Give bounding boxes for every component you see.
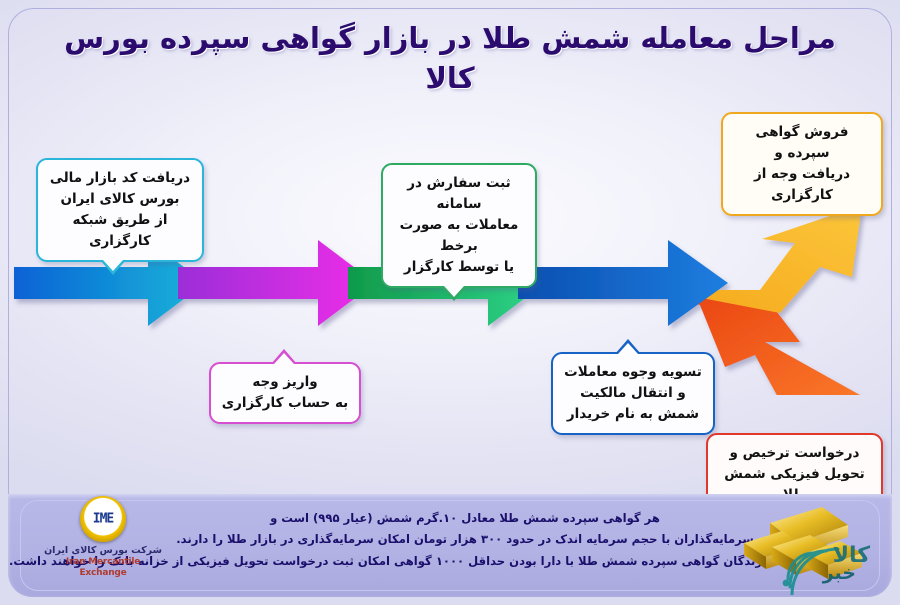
callout-step-1: دریافت کد بازار مالی بورس کالای ایران از…	[36, 158, 204, 262]
callout-step-4: تسویه وجوه معاملات و انتقال مالکیت شمش ب…	[551, 352, 715, 435]
callout-step-3: ثبت سفارش در سامانه معاملات به صورت برخط…	[381, 163, 537, 288]
callout-tail	[271, 349, 297, 364]
callout-tail	[441, 286, 467, 301]
step-4-line-1: تسویه وجوه معاملات	[563, 362, 703, 383]
step-1-line-1: دریافت کد بازار مالی	[48, 168, 192, 189]
step-3-line-2: معاملات به صورت برخط	[393, 215, 525, 257]
step-1-line-3: از طریق شبکه کارگزاری	[48, 210, 192, 252]
step-2-line-1: واریز وجه	[221, 372, 349, 393]
step-3-line-3: یا توسط کارگزار	[393, 257, 525, 278]
step-5-line-1: فروش گواهی سپرده و	[733, 122, 871, 164]
step-6-line-1: درخواست ترخیص و	[718, 443, 871, 464]
arrow-4	[518, 240, 728, 326]
ime-name-fa: شرکت بورس کالای ایران	[42, 545, 164, 557]
ime-logo-mark-text: IME	[80, 511, 126, 526]
watermark-line-2: خبر	[823, 562, 856, 584]
footer-band: هر گواهی سپرده شمش طلا معادل ۱۰.گرم شمش …	[8, 494, 892, 597]
step-4-line-2: و انتقال مالکیت	[563, 383, 703, 404]
arrow-2	[178, 240, 375, 326]
ime-name-en: Iran Mercantile Exchange	[42, 557, 164, 580]
footer-line-2: سرمایه‌گذاران با حجم سرمایه اندک در حدود…	[158, 529, 772, 550]
step-4-line-3: شمش به نام خریدار	[563, 404, 703, 425]
footer-note: هر گواهی سپرده شمش طلا معادل ۱۰.گرم شمش …	[158, 508, 772, 572]
callout-step-5: فروش گواهی سپرده و دریافت وجه از کارگزار…	[721, 112, 883, 216]
step-1-line-2: بورس کالای ایران	[48, 189, 192, 210]
watermark-kalakhabar: کالا خبر	[776, 529, 872, 591]
ime-logo: IME شرکت بورس کالای ایران Iran Mercantil…	[42, 496, 164, 579]
step-3-line-1: ثبت سفارش در سامانه	[393, 173, 525, 215]
callout-tail	[100, 260, 126, 275]
ime-logo-mark: IME	[80, 496, 126, 542]
infographic-poster: مراحل معامله شمش طلا در بازار گواهی سپرد…	[0, 0, 900, 605]
footer-line-1: هر گواهی سپرده شمش طلا معادل ۱۰.گرم شمش …	[158, 508, 772, 529]
step-5-line-2: دریافت وجه از کارگزاری	[733, 164, 871, 206]
step-2-line-2: به حساب کارگزاری	[221, 393, 349, 414]
callout-tail	[615, 339, 641, 354]
callout-step-2: واریز وجه به حساب کارگزاری	[209, 362, 361, 424]
page-title: مراحل معامله شمش طلا در بازار گواهی سپرد…	[0, 18, 900, 98]
footer-line-3: دارندگان گواهی سپرده شمش طلا با دارا بود…	[158, 551, 772, 572]
